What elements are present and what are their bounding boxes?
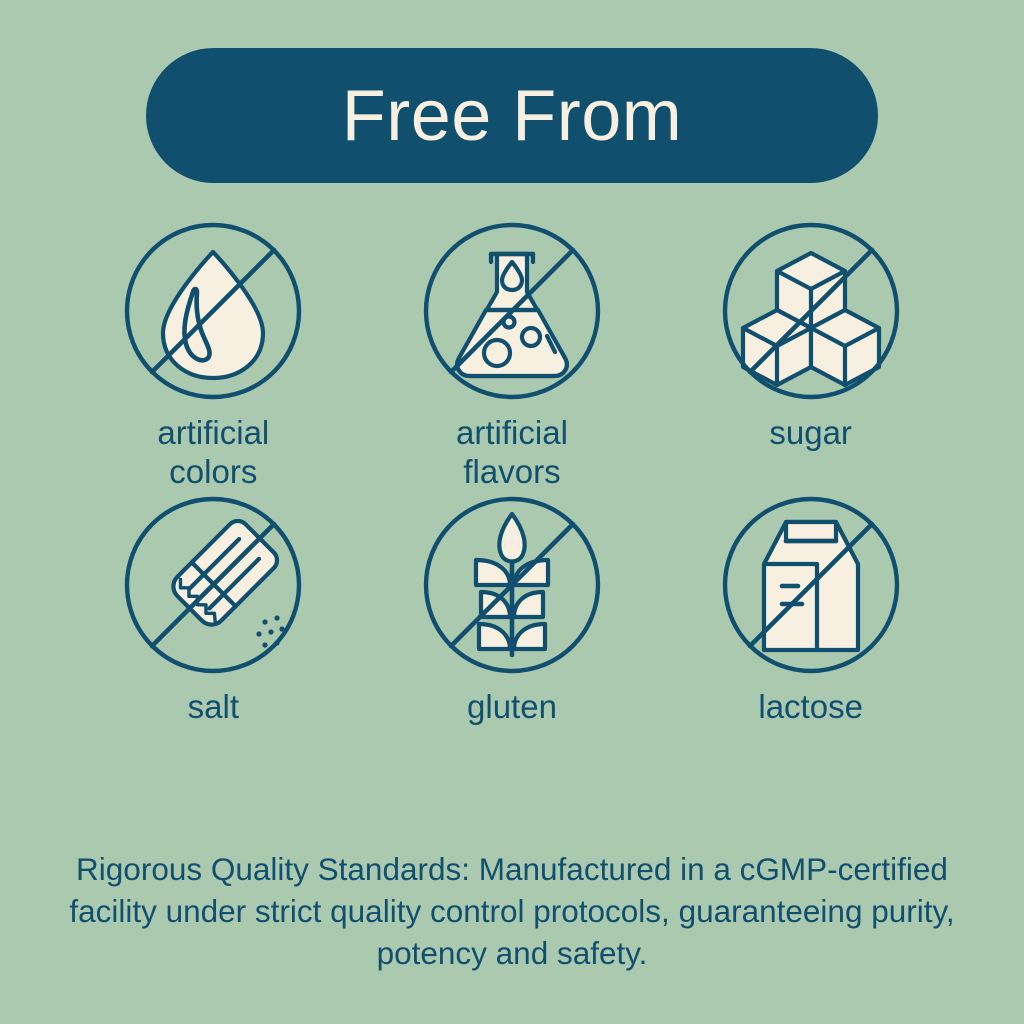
grid-item-lactose: lactose — [661, 492, 960, 727]
grid-item-label: artificial flavors — [456, 414, 568, 492]
no-artificial-flavors-icon — [419, 218, 605, 404]
grid-item-sugar: sugar — [661, 218, 960, 492]
no-artificial-colors-icon — [120, 218, 306, 404]
free-from-grid: artificial colors — [64, 218, 960, 727]
grid-item-artificial-colors: artificial colors — [64, 218, 363, 492]
no-salt-icon — [120, 492, 306, 678]
free-from-infographic: Free From artificial colors — [0, 0, 1024, 1024]
grid-item-label: artificial colors — [157, 414, 269, 492]
page-title: Free From — [342, 80, 683, 152]
grid-item-artificial-flavors: artificial flavors — [363, 218, 662, 492]
quality-standards-text: Rigorous Quality Standards: Manufactured… — [44, 848, 980, 975]
grid-item-gluten: gluten — [363, 492, 662, 727]
grid-item-label: salt — [188, 688, 239, 727]
header-pill: Free From — [146, 48, 878, 183]
no-gluten-icon — [419, 492, 605, 678]
grid-item-salt: salt — [64, 492, 363, 727]
grid-item-label: lactose — [758, 688, 863, 727]
no-lactose-icon — [718, 492, 904, 678]
no-sugar-icon — [718, 218, 904, 404]
grid-item-label: sugar — [769, 414, 852, 453]
grid-item-label: gluten — [467, 688, 557, 727]
